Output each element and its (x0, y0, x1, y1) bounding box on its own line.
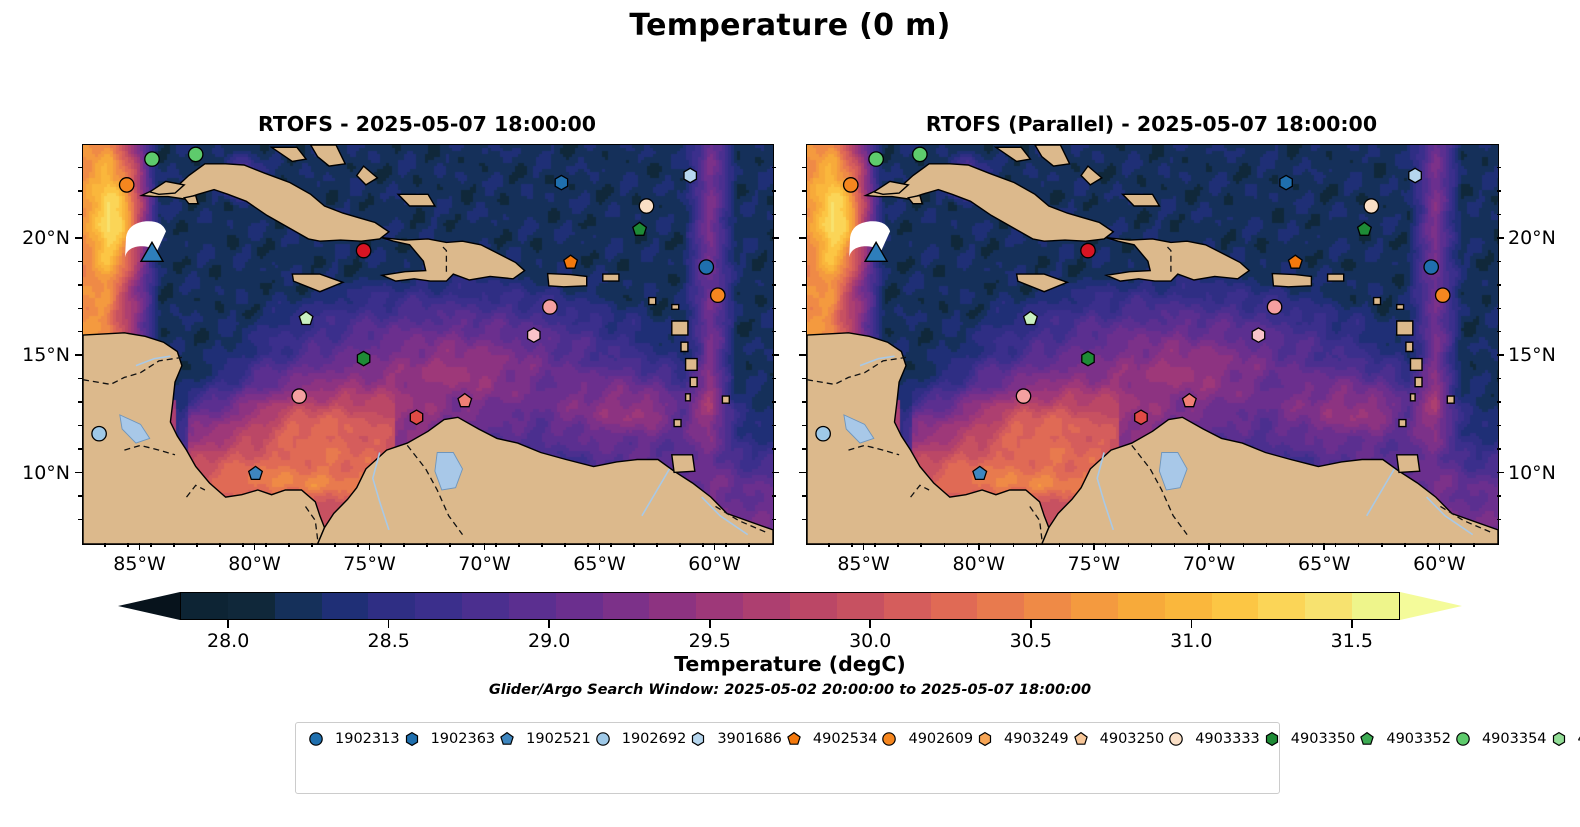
colorbar-tick (709, 620, 711, 628)
x-minor-tick (1381, 543, 1382, 547)
x-minor-tick (1151, 543, 1152, 547)
legend-item[interactable]: 3901686 (686, 728, 782, 749)
colorbar-segment (1118, 593, 1166, 620)
legend-item[interactable]: 4902534 (782, 728, 878, 749)
x-minor-tick (196, 543, 197, 547)
legend-item[interactable]: 1902692 (591, 728, 687, 749)
landmass-trinidad (672, 455, 695, 473)
y-minor-tick (78, 378, 82, 379)
y-minor-tick (772, 190, 776, 191)
x-minor-tick (1450, 543, 1451, 547)
float-marker[interactable] (92, 426, 106, 440)
colorbar-segment (1071, 593, 1119, 620)
float-marker[interactable] (189, 147, 203, 161)
x-minor-tick (633, 543, 634, 547)
x-minor-tick (403, 543, 404, 547)
x-minor-tick (1335, 543, 1336, 547)
x-minor-tick (426, 543, 427, 547)
x-minor-tick (1220, 543, 1221, 547)
legend-item[interactable]: 1902363 (400, 728, 496, 749)
legend-marker-shape (406, 732, 417, 745)
float-marker[interactable] (684, 168, 696, 182)
x-minor-tick (587, 543, 588, 547)
x-tick (1323, 543, 1325, 550)
colorbar-segment (649, 593, 697, 620)
landmass-stluc (690, 377, 697, 386)
x-minor-tick (127, 543, 128, 547)
colorbar[interactable]: 28.028.529.029.530.030.531.031.5 (118, 592, 1462, 620)
float-marker[interactable] (973, 466, 987, 479)
x-minor-tick (541, 543, 542, 547)
x-minor-tick (357, 543, 358, 547)
colorbar-segment (1165, 593, 1213, 620)
colorbar-segment (977, 593, 1025, 620)
colorbar-tick (1030, 620, 1032, 628)
y-minor-tick (802, 190, 806, 191)
y-tick-label: 15°N (1508, 345, 1580, 365)
colorbar-segment (275, 593, 323, 620)
colorbar-segment (228, 593, 276, 620)
y-minor-tick (802, 308, 806, 309)
y-minor-tick (1497, 401, 1501, 402)
landmass-antigua (672, 305, 679, 310)
x-tick-label: 65°W (1264, 553, 1384, 575)
landmass-colven (1042, 417, 1498, 544)
x-minor-tick (173, 543, 174, 547)
y-minor-tick (78, 519, 82, 520)
legend-item[interactable]: 4902609 (877, 728, 973, 749)
landmass-pr (548, 274, 587, 287)
x-minor-tick (219, 543, 220, 547)
colorbar-extend-min (118, 592, 180, 620)
y-tick (772, 237, 779, 239)
landmass-juventud (908, 196, 922, 204)
y-minor-tick (1497, 519, 1501, 520)
legend-label: 4903250 (1100, 731, 1165, 747)
x-tick (139, 543, 141, 550)
legend-circle-icon (591, 729, 615, 749)
legend-marker-shape (693, 732, 704, 745)
y-tick-label: 10°N (1508, 463, 1580, 483)
y-minor-tick (802, 331, 806, 332)
landmass-bahama4 (398, 194, 435, 206)
landmass-bahama4 (1123, 194, 1160, 206)
y-tick (75, 237, 82, 239)
legend-marker-shape (1553, 732, 1564, 745)
float-marker[interactable] (1358, 222, 1372, 235)
x-minor-tick (1243, 543, 1244, 547)
x-minor-tick (679, 543, 680, 547)
landmass-dominica (1406, 342, 1413, 351)
x-minor-tick (851, 543, 852, 547)
colorbar-segment (790, 593, 838, 620)
x-tick-label: 75°W (310, 553, 430, 575)
x-tick (863, 543, 865, 550)
x-tick (369, 543, 371, 550)
float-marker[interactable] (299, 312, 313, 325)
colorbar-segment (462, 593, 510, 620)
float-marker[interactable] (711, 288, 725, 302)
float-marker[interactable] (869, 152, 883, 166)
legend-hexagon-icon (1547, 729, 1571, 749)
legend-item[interactable]: 4903350 (1260, 728, 1356, 749)
float-marker[interactable] (356, 243, 370, 257)
colorbar-tick (869, 620, 871, 628)
y-tick (1497, 237, 1504, 239)
legend-circle-icon (1451, 729, 1475, 749)
legend-pentagon-icon (495, 729, 519, 749)
colorbar-segment (884, 593, 932, 620)
float-marker[interactable] (1024, 312, 1038, 325)
x-minor-tick (990, 543, 991, 547)
colorbar-segment (181, 593, 229, 620)
legend-label: 4903352 (1386, 731, 1451, 747)
float-marker[interactable] (1252, 328, 1265, 342)
landmass-bahama2 (311, 145, 346, 166)
x-minor-tick (1013, 543, 1014, 547)
x-minor-tick (265, 543, 266, 547)
y-tick (799, 354, 806, 356)
x-minor-tick (380, 543, 381, 547)
landmass-juventud (184, 196, 198, 204)
x-minor-tick (1105, 543, 1106, 547)
y-minor-tick (1497, 378, 1501, 379)
legend-marker-shape (883, 732, 895, 744)
x-minor-tick (242, 543, 243, 547)
y-minor-tick (802, 448, 806, 449)
landmass-virgin (603, 274, 619, 281)
x-minor-tick (920, 543, 921, 547)
colorbar-tick-label: 29.5 (650, 630, 770, 652)
legend-item[interactable]: 4903352 (1355, 728, 1451, 749)
colorbar-tick (548, 620, 550, 628)
legend-label: 4903249 (1004, 731, 1069, 747)
y-minor-tick (772, 331, 776, 332)
y-tick (799, 472, 806, 474)
legend-marker-shape (788, 732, 800, 744)
legend-label: 1902313 (335, 731, 400, 747)
legend-circle-icon (304, 729, 328, 749)
x-minor-tick (1289, 543, 1290, 547)
landmass-cuba (142, 164, 389, 241)
colorbar-tick-label: 31.0 (1131, 630, 1251, 652)
colorbar-tick-label: 31.5 (1292, 630, 1412, 652)
colorbar-tick (388, 620, 390, 628)
float-marker[interactable] (1135, 410, 1148, 424)
legend-item[interactable]: 4903550 (1547, 728, 1580, 749)
x-minor-tick (874, 543, 875, 547)
x-minor-tick (564, 543, 565, 547)
y-minor-tick (802, 495, 806, 496)
landmass-grenada (1399, 420, 1406, 427)
x-minor-tick (104, 543, 105, 547)
y-minor-tick (1497, 425, 1501, 426)
coastline-layer (83, 145, 773, 544)
x-tick-label: 60°W (1379, 553, 1499, 575)
colorbar-segment (1258, 593, 1306, 620)
x-tick (599, 543, 601, 550)
legend-marker-shape (1457, 732, 1469, 744)
y-minor-tick (78, 167, 82, 168)
y-minor-tick (78, 284, 82, 285)
legend-pentagon-icon (1069, 729, 1093, 749)
x-minor-tick (1059, 543, 1060, 547)
float-marker[interactable] (1183, 394, 1197, 407)
y-minor-tick (802, 261, 806, 262)
float-marker[interactable] (528, 328, 540, 342)
y-minor-tick (772, 425, 776, 426)
landmass-guad (672, 321, 688, 335)
colorbar-segment (1352, 593, 1400, 620)
y-minor-tick (1497, 308, 1501, 309)
float-marker[interactable] (844, 178, 858, 192)
y-minor-tick (1497, 448, 1501, 449)
float-marker[interactable] (639, 199, 653, 213)
panel-title-right: RTOFS (Parallel) - 2025-05-07 18:00:00 (806, 112, 1497, 136)
x-minor-tick (1128, 543, 1129, 547)
y-minor-tick (772, 495, 776, 496)
colorbar-tick-label: 30.0 (810, 630, 930, 652)
y-tick (1497, 472, 1504, 474)
x-tick-label: 60°W (655, 553, 775, 575)
colorbar-tick (1351, 620, 1353, 628)
x-tick (1208, 543, 1210, 550)
float-marker[interactable] (410, 410, 422, 424)
panel-title-left: RTOFS - 2025-05-07 18:00:00 (82, 112, 772, 136)
x-tick-label: 65°W (540, 553, 660, 575)
float-marker[interactable] (145, 152, 159, 166)
y-minor-tick (1497, 284, 1501, 285)
y-minor-tick (772, 378, 776, 379)
y-tick (772, 472, 779, 474)
colorbar-segment (931, 593, 979, 620)
legend-hexagon-icon (400, 729, 424, 749)
x-minor-tick (311, 543, 312, 547)
x-tick-label: 75°W (1034, 553, 1154, 575)
legend-circle-icon (1164, 729, 1188, 749)
float-marker[interactable] (1436, 288, 1450, 302)
legend-hexagon-icon (1260, 729, 1284, 749)
x-minor-tick (495, 543, 496, 547)
float-marker[interactable] (699, 260, 713, 274)
colorbar-segment (1212, 593, 1260, 620)
float-marker[interactable] (1280, 175, 1292, 189)
x-minor-tick (1197, 543, 1198, 547)
map-panel-rtofs[interactable] (82, 144, 774, 545)
legend-label: 4903354 (1482, 731, 1547, 747)
legend-item[interactable]: 1902313 (304, 728, 400, 749)
float-marker[interactable] (1424, 260, 1438, 274)
y-minor-tick (802, 284, 806, 285)
glider-track (849, 221, 890, 257)
float-marker[interactable] (120, 178, 134, 192)
y-minor-tick (78, 401, 82, 402)
y-minor-tick (802, 401, 806, 402)
map-panel-rtofs-parallel[interactable] (806, 144, 1499, 545)
page-title: Temperature (0 m) (0, 8, 1580, 43)
y-minor-tick (1497, 261, 1501, 262)
landmass-cuba (866, 164, 1114, 241)
y-minor-tick (1497, 190, 1501, 191)
legend-pentagon-icon (1355, 729, 1379, 749)
y-tick-label: 15°N (0, 345, 70, 365)
x-tick (484, 543, 486, 550)
landmass-mart (1411, 359, 1423, 371)
landmass-stkitts (649, 298, 656, 305)
legend-marker-shape (597, 732, 609, 744)
landmass-bahama3 (1081, 166, 1102, 185)
x-minor-tick (1404, 543, 1405, 547)
y-minor-tick (772, 261, 776, 262)
x-tick (1093, 543, 1095, 550)
landmass-guad (1397, 321, 1413, 335)
landmass-colven (318, 417, 773, 544)
float-marker[interactable] (633, 222, 647, 235)
float-marker[interactable] (1289, 255, 1303, 268)
x-minor-tick (828, 543, 829, 547)
colorbar-segment (837, 593, 885, 620)
colorbar-segment (415, 593, 463, 620)
legend-item[interactable]: 1902521 (495, 728, 591, 749)
x-tick (254, 543, 256, 550)
y-minor-tick (802, 167, 806, 168)
landmass-barb (722, 396, 729, 403)
colorbar-segment (509, 593, 557, 620)
y-minor-tick (1497, 331, 1501, 332)
float-marker[interactable] (555, 175, 567, 189)
y-minor-tick (772, 519, 776, 520)
y-tick-label: 10°N (0, 463, 70, 483)
x-minor-tick (656, 543, 657, 547)
legend-circle-icon (877, 729, 901, 749)
x-minor-tick (334, 543, 335, 547)
float-marker[interactable] (1081, 243, 1095, 257)
y-minor-tick (78, 261, 82, 262)
float-marker[interactable] (249, 466, 263, 479)
float-marker[interactable] (292, 389, 306, 403)
legend-item[interactable]: 4903249 (973, 728, 1069, 749)
search-window-caption: Glider/Argo Search Window: 2025-05-02 20… (0, 682, 1580, 698)
coastline-layer (807, 145, 1498, 544)
legend-marker-shape (980, 732, 991, 745)
float-marker[interactable] (458, 394, 472, 407)
landmass-antigua (1397, 305, 1404, 310)
legend-item[interactable]: 4903354 (1451, 728, 1547, 749)
x-minor-tick (748, 543, 749, 547)
landmass-stvin (686, 394, 691, 401)
y-minor-tick (1497, 214, 1501, 215)
y-minor-tick (78, 308, 82, 309)
legend-label: 1902363 (431, 731, 496, 747)
y-minor-tick (78, 331, 82, 332)
legend-item[interactable]: 4903250 (1069, 728, 1165, 749)
colorbar-tick-label: 30.5 (971, 630, 1091, 652)
landmass-bahama2 (1035, 145, 1070, 166)
float-marker[interactable] (357, 351, 369, 365)
y-minor-tick (772, 308, 776, 309)
x-minor-tick (472, 543, 473, 547)
colorbar-segment (322, 593, 370, 620)
landmass-virgin (1328, 274, 1344, 281)
colorbar-label: Temperature (degC) (0, 652, 1580, 676)
x-minor-tick (1358, 543, 1359, 547)
x-minor-tick (897, 543, 898, 547)
colorbar-segment (556, 593, 604, 620)
x-minor-tick (1312, 543, 1313, 547)
y-minor-tick (772, 214, 776, 215)
float-marker[interactable] (816, 426, 830, 440)
y-tick (75, 472, 82, 474)
colorbar-tick (227, 620, 229, 628)
float-marker[interactable] (564, 255, 578, 268)
x-tick-label: 85°W (804, 553, 924, 575)
float-marker[interactable] (913, 147, 927, 161)
legend-label: 4902534 (813, 731, 878, 747)
x-minor-tick (944, 543, 945, 547)
legend-label: 3901686 (717, 731, 782, 747)
colorbar-segment (1024, 593, 1072, 620)
landmass-grenada (674, 420, 681, 427)
float-marker[interactable] (1267, 300, 1281, 314)
legend-item[interactable]: 4903333 (1164, 728, 1260, 749)
legend-label: 4902609 (908, 731, 973, 747)
x-tick (978, 543, 980, 550)
legend-marker-shape (1361, 732, 1373, 744)
y-minor-tick (78, 495, 82, 496)
legend-label: 4903350 (1291, 731, 1356, 747)
y-minor-tick (78, 425, 82, 426)
landmass-pr (1272, 274, 1311, 287)
x-minor-tick (150, 543, 151, 547)
colorbar-segment (368, 593, 416, 620)
legend-label: 4903333 (1195, 731, 1260, 747)
y-tick (75, 354, 82, 356)
legend-marker-shape (1266, 732, 1277, 745)
y-tick (772, 354, 779, 356)
x-minor-tick (1266, 543, 1267, 547)
landmass-hisp (1106, 238, 1249, 281)
float-marker[interactable] (1082, 351, 1094, 365)
x-tick-label: 70°W (1149, 553, 1269, 575)
landmass-bahama3 (357, 166, 378, 185)
x-minor-tick (518, 543, 519, 547)
colorbar-tick-label: 29.0 (489, 630, 609, 652)
float-marker[interactable] (543, 300, 557, 314)
x-tick-label: 80°W (919, 553, 1039, 575)
landmass-centam (83, 333, 325, 544)
colorbar-tick-label: 28.5 (329, 630, 449, 652)
float-marker[interactable] (1016, 389, 1030, 403)
float-marker[interactable] (1409, 168, 1422, 182)
x-tick (1439, 543, 1441, 550)
y-minor-tick (78, 448, 82, 449)
x-tick-label: 80°W (195, 553, 315, 575)
colorbar-tick-label: 28.0 (168, 630, 288, 652)
y-minor-tick (802, 519, 806, 520)
x-minor-tick (725, 543, 726, 547)
y-minor-tick (772, 448, 776, 449)
legend-hexagon-icon (686, 729, 710, 749)
legend-box[interactable]: 1902313190236319025211902692390168649025… (295, 722, 1280, 794)
x-minor-tick (967, 543, 968, 547)
y-minor-tick (78, 214, 82, 215)
colorbar-segment (603, 593, 651, 620)
x-tick-label: 70°W (425, 553, 545, 575)
glider-track (125, 221, 166, 257)
float-marker[interactable] (1364, 199, 1378, 213)
y-minor-tick (772, 167, 776, 168)
legend-pentagon-icon (782, 729, 806, 749)
